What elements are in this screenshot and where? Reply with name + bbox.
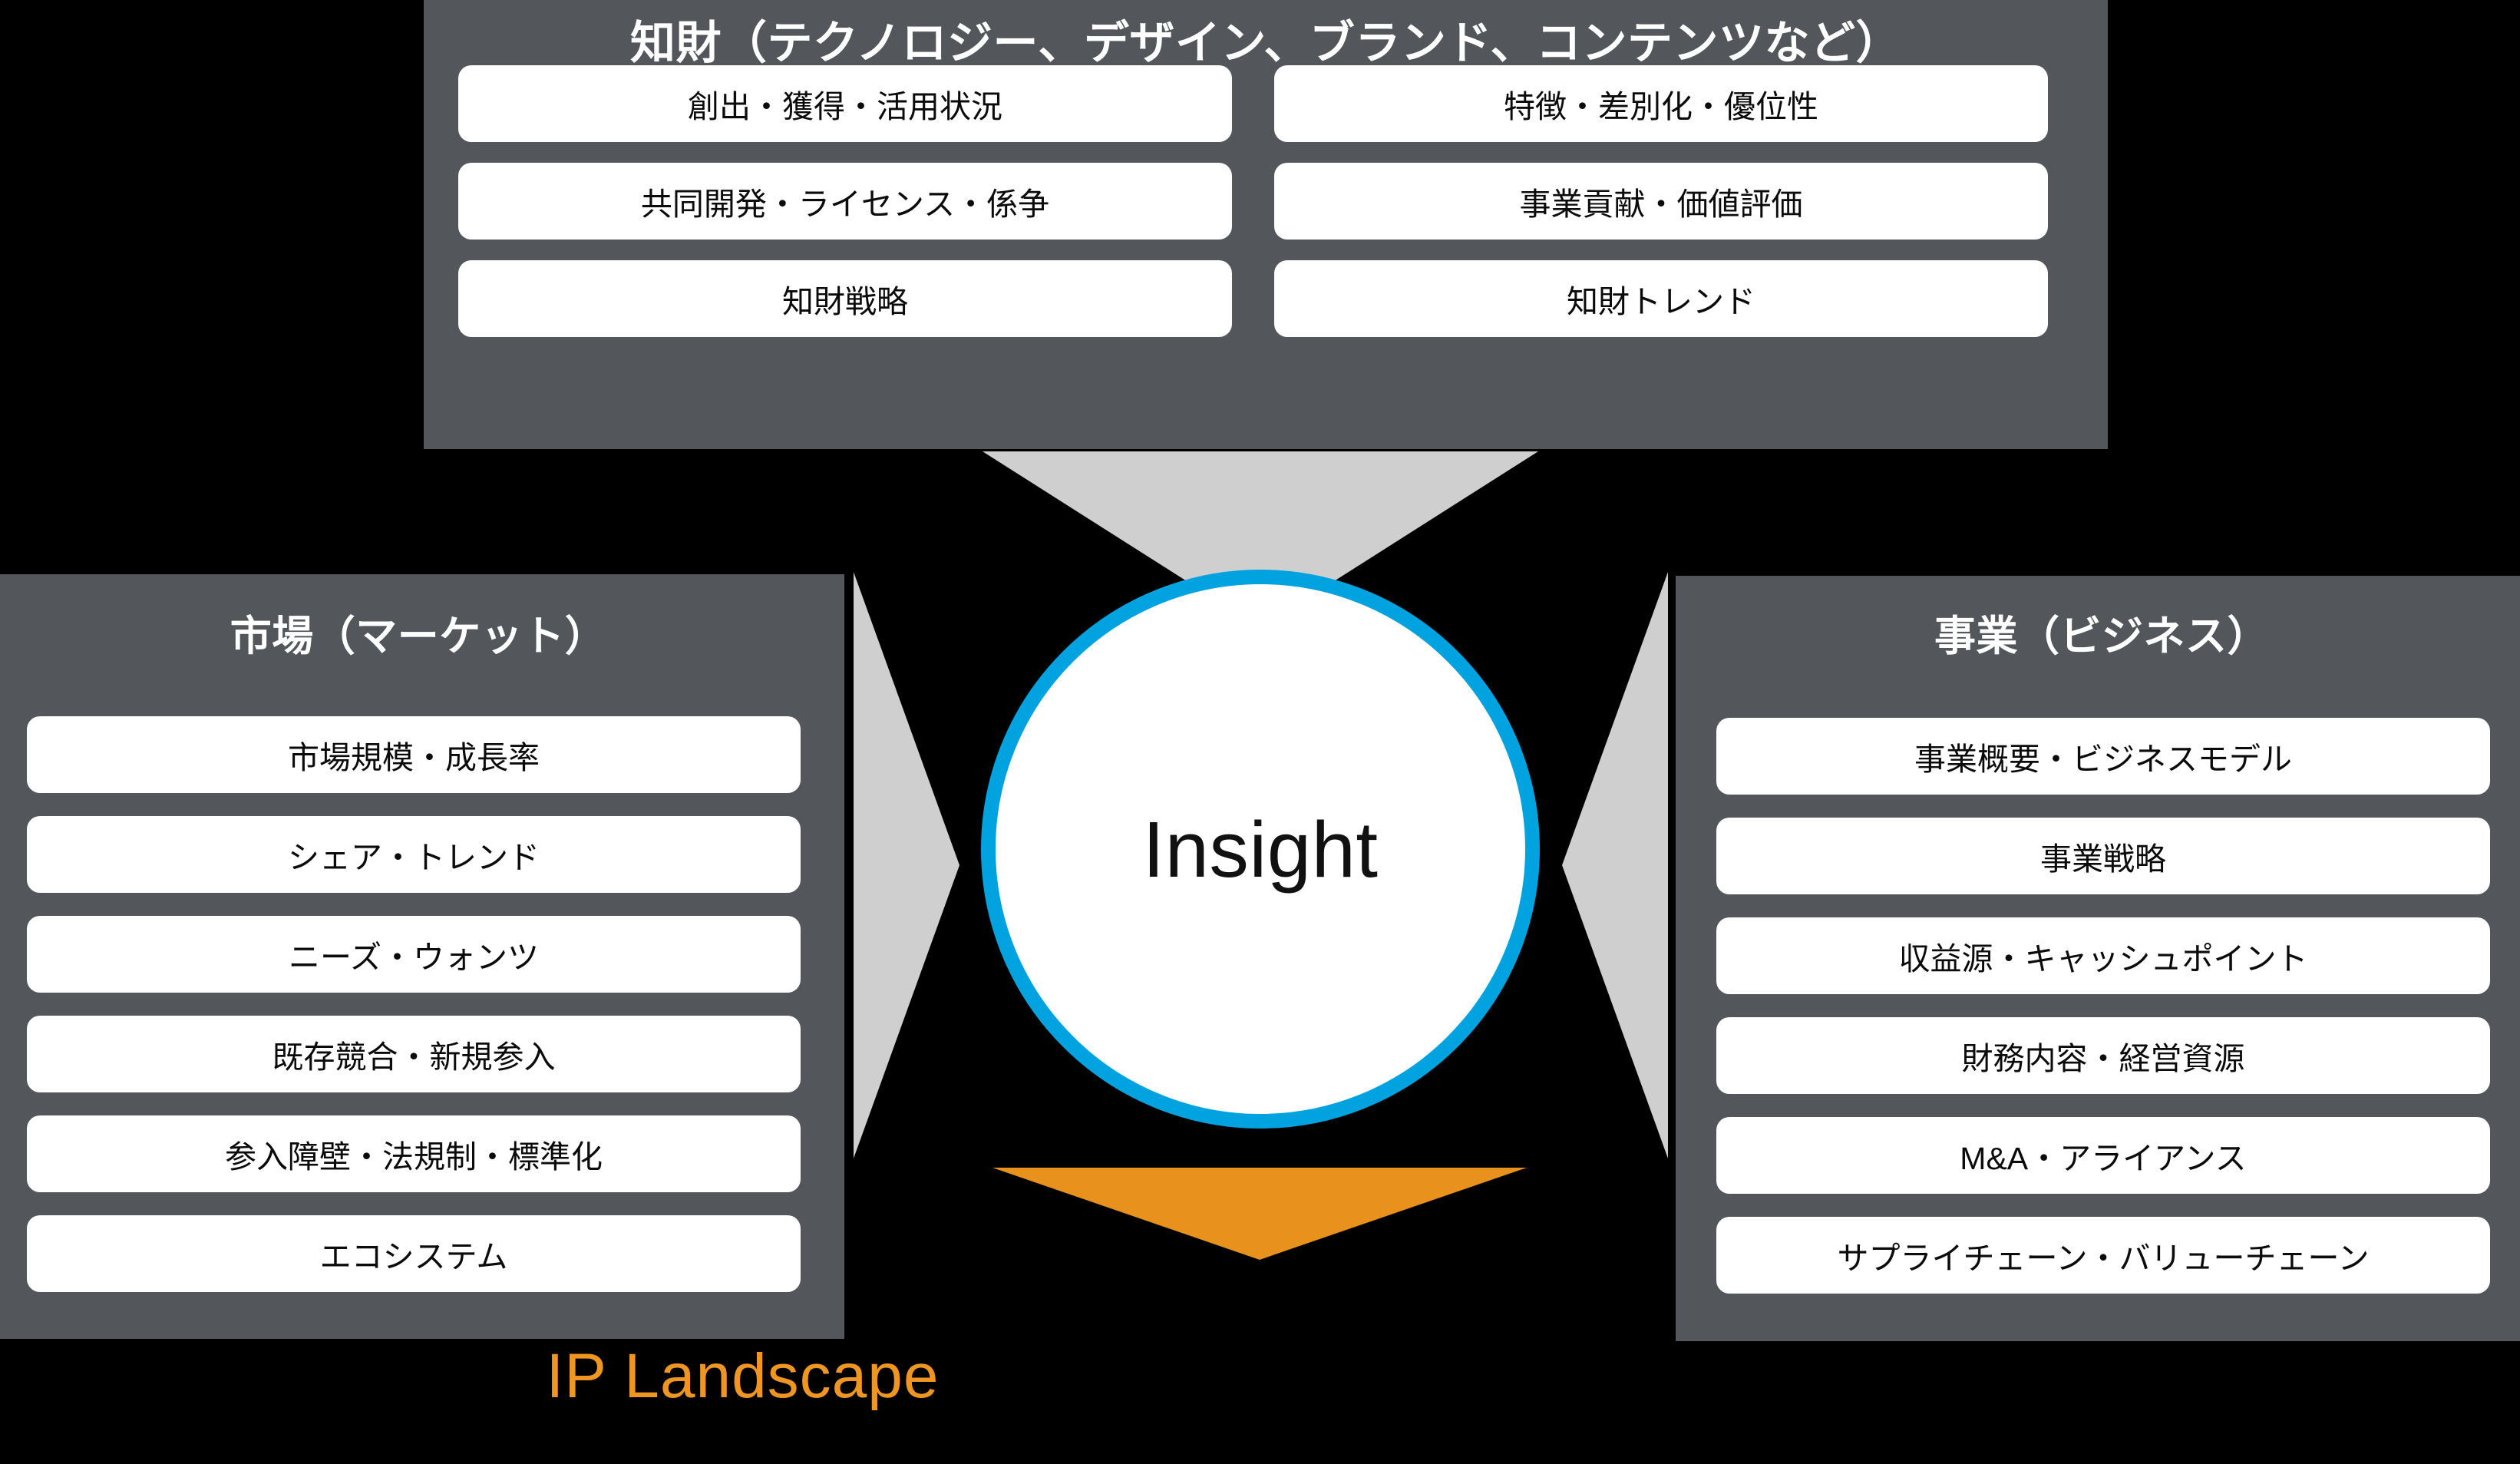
pill-market-5: 参入障壁・法規制・標準化 [27, 1115, 801, 1192]
pill-ip-right-1: 特徴・差別化・優位性 [1274, 65, 2048, 142]
pill-business-4: 財務内容・経営資源 [1716, 1017, 2490, 1094]
pill-ip-right-2: 事業貢献・価値評価 [1274, 163, 2048, 240]
pill-business-1: 事業概要・ビジネスモデル [1716, 718, 2490, 795]
panel-business: 事業（ビジネス） 事業概要・ビジネスモデル 事業戦略 収益源・キャッシュポイント… [1676, 576, 2520, 1341]
pill-market-6: エコシステム [27, 1215, 801, 1292]
pill-ip-left-3: 知財戦略 [458, 260, 1232, 337]
panel-market: 市場（マーケット） 市場規模・成長率 シェア・トレンド ニーズ・ウォンツ 既存競… [0, 574, 844, 1339]
pill-market-1: 市場規模・成長率 [27, 716, 801, 793]
pill-ip-right-3: 知財トレンド [1274, 260, 2048, 337]
pill-business-6: サプライチェーン・バリューチェーン [1716, 1217, 2490, 1294]
panel-intellectual-property: 知財（テクノロジー、デザイン、ブランド、コンテンツなど） 創出・獲得・活用状況 … [424, 0, 2108, 449]
panel-business-title: 事業（ビジネス） [1676, 602, 2520, 663]
pill-market-4: 既存競合・新規参入 [27, 1016, 801, 1092]
pill-market-3: ニーズ・ウォンツ [27, 916, 801, 993]
insight-label: Insight [1143, 810, 1379, 889]
pill-ip-left-2: 共同開発・ライセンス・係争 [458, 163, 1232, 240]
arrow-right-gray-icon [854, 572, 959, 1158]
insight-circle: Insight [981, 570, 1540, 1129]
arrow-down-orange-icon [992, 1168, 1527, 1260]
pill-business-2: 事業戦略 [1716, 818, 2490, 894]
panel-market-title: 市場（マーケット） [0, 602, 844, 663]
diagram-canvas: 知財（テクノロジー、デザイン、ブランド、コンテンツなど） 創出・獲得・活用状況 … [0, 0, 2520, 1464]
ip-landscape-caption: IP Landscape [0, 1340, 1485, 1413]
pill-business-3: 収益源・キャッシュポイント [1716, 917, 2490, 994]
arrow-left-gray-icon [1562, 572, 1668, 1158]
pill-market-2: シェア・トレンド [27, 816, 801, 893]
panel-ip-title: 知財（テクノロジー、デザイン、ブランド、コンテンツなど） [424, 6, 2108, 71]
pill-ip-left-1: 創出・獲得・活用状況 [458, 65, 1232, 142]
pill-business-5: M&A・アライアンス [1716, 1117, 2490, 1194]
